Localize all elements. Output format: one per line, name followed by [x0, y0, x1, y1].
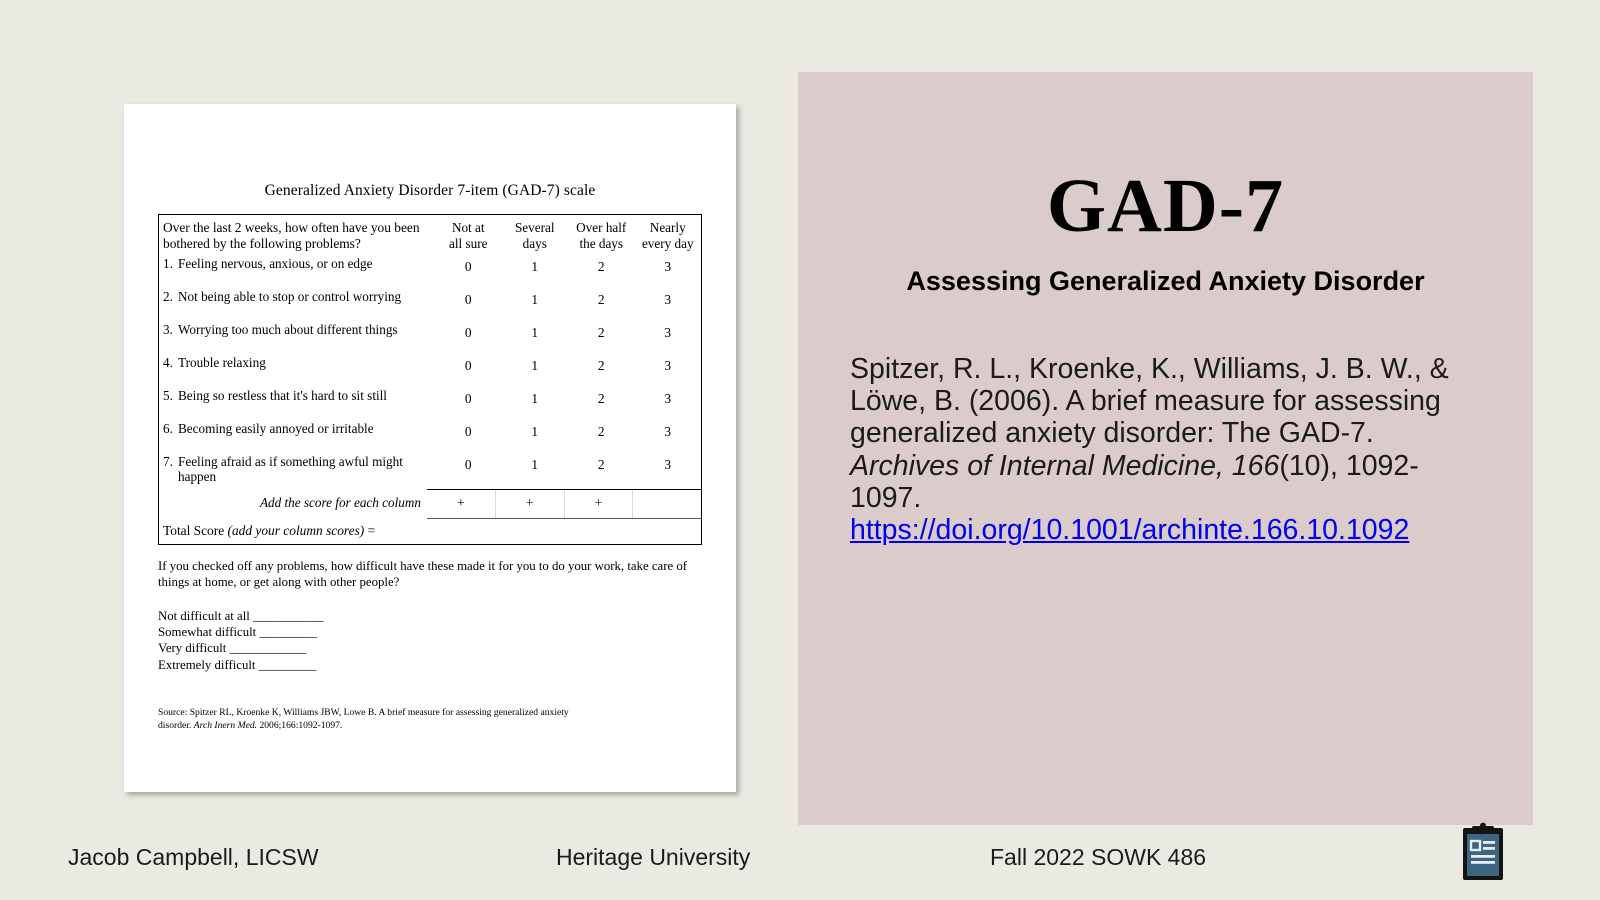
gad7-table: Over the last 2 weeks, how often have yo…: [158, 214, 702, 545]
item-text-continued: happen: [163, 469, 431, 485]
table-prompt: Over the last 2 weeks, how often have yo…: [163, 220, 435, 252]
scale-header-line2: every day: [635, 236, 702, 252]
score-cell-3: 3: [635, 322, 702, 341]
score-cell-3: 3: [635, 388, 702, 407]
item-label: 3.Worrying too much about different thin…: [163, 322, 435, 338]
citation-authors-and-article: Spitzer, R. L., Kroenke, K., Williams, J…: [850, 353, 1449, 449]
add-score-cell-1: +: [496, 490, 565, 518]
item-score-cells: 0 1 2 3: [435, 355, 701, 374]
item-score-cells: 0 1 2 3: [435, 256, 701, 275]
citation-journal-name: Archives of Internal Medicine,: [850, 450, 1224, 482]
source-line-1: Source: Spitzer RL, Kroenke K, Williams …: [158, 707, 702, 719]
score-cell-3: 3: [635, 421, 702, 440]
score-cell-0: 0: [435, 355, 502, 374]
table-row: 1.Feeling nervous, anxious, or on edge 0…: [159, 254, 701, 287]
item-label: 5.Being so restless that it's hard to si…: [163, 388, 435, 404]
score-cell-1: 1: [502, 322, 569, 341]
item-score-cells: 0 1 2 3: [435, 454, 701, 473]
difficulty-question: If you checked off any problems, how dif…: [158, 559, 702, 590]
item-label: 4.Trouble relaxing: [163, 355, 435, 371]
item-label: 2.Not being able to stop or control worr…: [163, 289, 435, 305]
score-cell-2: 2: [568, 388, 635, 407]
item-number: 7.: [163, 454, 178, 470]
item-number: 4.: [163, 355, 178, 371]
score-cell-0: 0: [435, 388, 502, 407]
difficulty-option-not-difficult: Not difficult at all ___________: [158, 608, 702, 624]
total-score-hint: (add your column scores): [228, 523, 365, 538]
item-number: 5.: [163, 388, 178, 404]
add-score-cell-3: [633, 490, 701, 518]
score-cell-1: 1: [502, 289, 569, 308]
table-row: 7.Feeling afraid as if something awful m…: [159, 452, 701, 488]
item-text: Becoming easily annoyed or irritable: [178, 421, 374, 436]
source-suffix: 2006;166:1092-1097.: [257, 720, 342, 731]
difficulty-option-very-difficult: Very difficult ____________: [158, 640, 702, 656]
score-cell-2: 2: [568, 421, 635, 440]
item-label: 6.Becoming easily annoyed or irritable: [163, 421, 435, 437]
total-score-equals: =: [364, 523, 375, 538]
score-cell-0: 0: [435, 256, 502, 275]
scale-header-cells: Not at all sure Several days Over half t…: [435, 220, 701, 251]
score-cell-0: 0: [435, 322, 502, 341]
scale-header-line1: Nearly: [635, 220, 702, 236]
gad7-scanned-document: Generalized Anxiety Disorder 7-item (GAD…: [124, 104, 736, 792]
item-text: Feeling afraid as if something awful mig…: [178, 454, 403, 469]
score-cell-3: 3: [635, 289, 702, 308]
score-cell-3: 3: [635, 355, 702, 374]
item-score-cells: 0 1 2 3: [435, 388, 701, 407]
title-panel: GAD-7 Assessing Generalized Anxiety Diso…: [798, 72, 1533, 825]
scale-header-several-days: Several days: [502, 220, 569, 251]
clipboard-form-icon: [1456, 822, 1510, 882]
score-cell-1: 1: [502, 454, 569, 473]
score-cell-2: 2: [568, 289, 635, 308]
footer-presenter: Jacob Campbell, LICSW: [68, 844, 319, 871]
total-score-text: Total Score: [163, 523, 228, 538]
table-row: 6.Becoming easily annoyed or irritable 0…: [159, 419, 701, 452]
item-number: 2.: [163, 289, 178, 305]
scale-header-line1: Several: [502, 220, 569, 236]
scale-header-line2: days: [502, 236, 569, 252]
table-row: 2.Not being able to stop or control worr…: [159, 287, 701, 320]
scale-header-not-at-all: Not at all sure: [435, 220, 502, 251]
table-row: 3.Worrying too much about different thin…: [159, 320, 701, 353]
score-cell-1: 1: [502, 421, 569, 440]
item-score-cells: 0 1 2 3: [435, 421, 701, 440]
difficulty-option-extremely-difficult: Extremely difficult _________: [158, 657, 702, 673]
scale-header-line2: the days: [568, 236, 635, 252]
score-cell-1: 1: [502, 355, 569, 374]
table-row: 4.Trouble relaxing 0 1 2 3: [159, 353, 701, 386]
item-text: Feeling nervous, anxious, or on edge: [178, 256, 372, 271]
difficulty-option-somewhat-difficult: Somewhat difficult _________: [158, 624, 702, 640]
scale-header-nearly-every-day: Nearly every day: [635, 220, 702, 251]
total-score-label: Total Score (add your column scores) =: [163, 523, 375, 539]
score-cell-3: 3: [635, 256, 702, 275]
score-cell-1: 1: [502, 256, 569, 275]
table-row: 5.Being so restless that it's hard to si…: [159, 386, 701, 419]
page-title: GAD-7: [850, 168, 1481, 244]
scale-header-line1: Not at: [435, 220, 502, 236]
add-score-cell-0: +: [427, 490, 496, 518]
score-cell-0: 0: [435, 421, 502, 440]
score-cell-3: 3: [635, 454, 702, 473]
scale-header-line1: Over half: [568, 220, 635, 236]
item-label: 1.Feeling nervous, anxious, or on edge: [163, 256, 435, 272]
score-cell-2: 2: [568, 355, 635, 374]
item-number: 3.: [163, 322, 178, 338]
source-journal: Arch Inern Med.: [194, 720, 257, 731]
score-cell-0: 0: [435, 454, 502, 473]
item-text: Worrying too much about different things: [178, 322, 398, 337]
item-number: 6.: [163, 421, 178, 437]
table-prompt-line1: Over the last 2 weeks, how often have yo…: [163, 220, 431, 236]
source-prefix: disorder.: [158, 720, 194, 731]
score-cell-2: 2: [568, 454, 635, 473]
table-prompt-line2: bothered by the following problems?: [163, 236, 431, 252]
document-source-note: Source: Spitzer RL, Kroenke K, Williams …: [158, 707, 702, 732]
item-number: 1.: [163, 256, 178, 272]
item-text: Being so restless that it's hard to sit …: [178, 388, 387, 403]
citation-volume: 166: [1232, 450, 1280, 482]
scale-header-over-half-the-days: Over half the days: [568, 220, 635, 251]
score-cell-2: 2: [568, 322, 635, 341]
item-text: Not being able to stop or control worryi…: [178, 289, 401, 304]
footer-institution: Heritage University: [556, 844, 750, 871]
scale-header-line2: all sure: [435, 236, 502, 252]
footer-course: Fall 2022 SOWK 486: [990, 844, 1206, 871]
add-score-row: Add the score for each column + + +: [159, 489, 701, 519]
add-score-cells: + + +: [427, 489, 701, 519]
page-subtitle: Assessing Generalized Anxiety Disorder: [850, 266, 1481, 297]
difficulty-options: Not difficult at all ___________ Somewha…: [158, 608, 702, 674]
item-label: 7.Feeling afraid as if something awful m…: [163, 454, 435, 486]
item-score-cells: 0 1 2 3: [435, 289, 701, 308]
score-cell-1: 1: [502, 388, 569, 407]
add-score-label: Add the score for each column: [159, 489, 427, 519]
item-text: Trouble relaxing: [178, 355, 266, 370]
table-header-row: Over the last 2 weeks, how often have yo…: [159, 215, 701, 254]
apa-citation: Spitzer, R. L., Kroenke, K., Williams, J…: [850, 353, 1481, 546]
total-score-row: Total Score (add your column scores) =: [159, 519, 701, 544]
citation-doi-link[interactable]: https://doi.org/10.1001/archinte.166.10.…: [850, 514, 1409, 546]
score-cell-2: 2: [568, 256, 635, 275]
add-score-cell-2: +: [565, 490, 634, 518]
document-title: Generalized Anxiety Disorder 7-item (GAD…: [124, 182, 736, 200]
slide-footer: Jacob Campbell, LICSW Heritage Universit…: [0, 835, 1600, 879]
score-cell-0: 0: [435, 289, 502, 308]
item-score-cells: 0 1 2 3: [435, 322, 701, 341]
source-line-2: disorder. Arch Inern Med. 2006;166:1092-…: [158, 720, 702, 732]
